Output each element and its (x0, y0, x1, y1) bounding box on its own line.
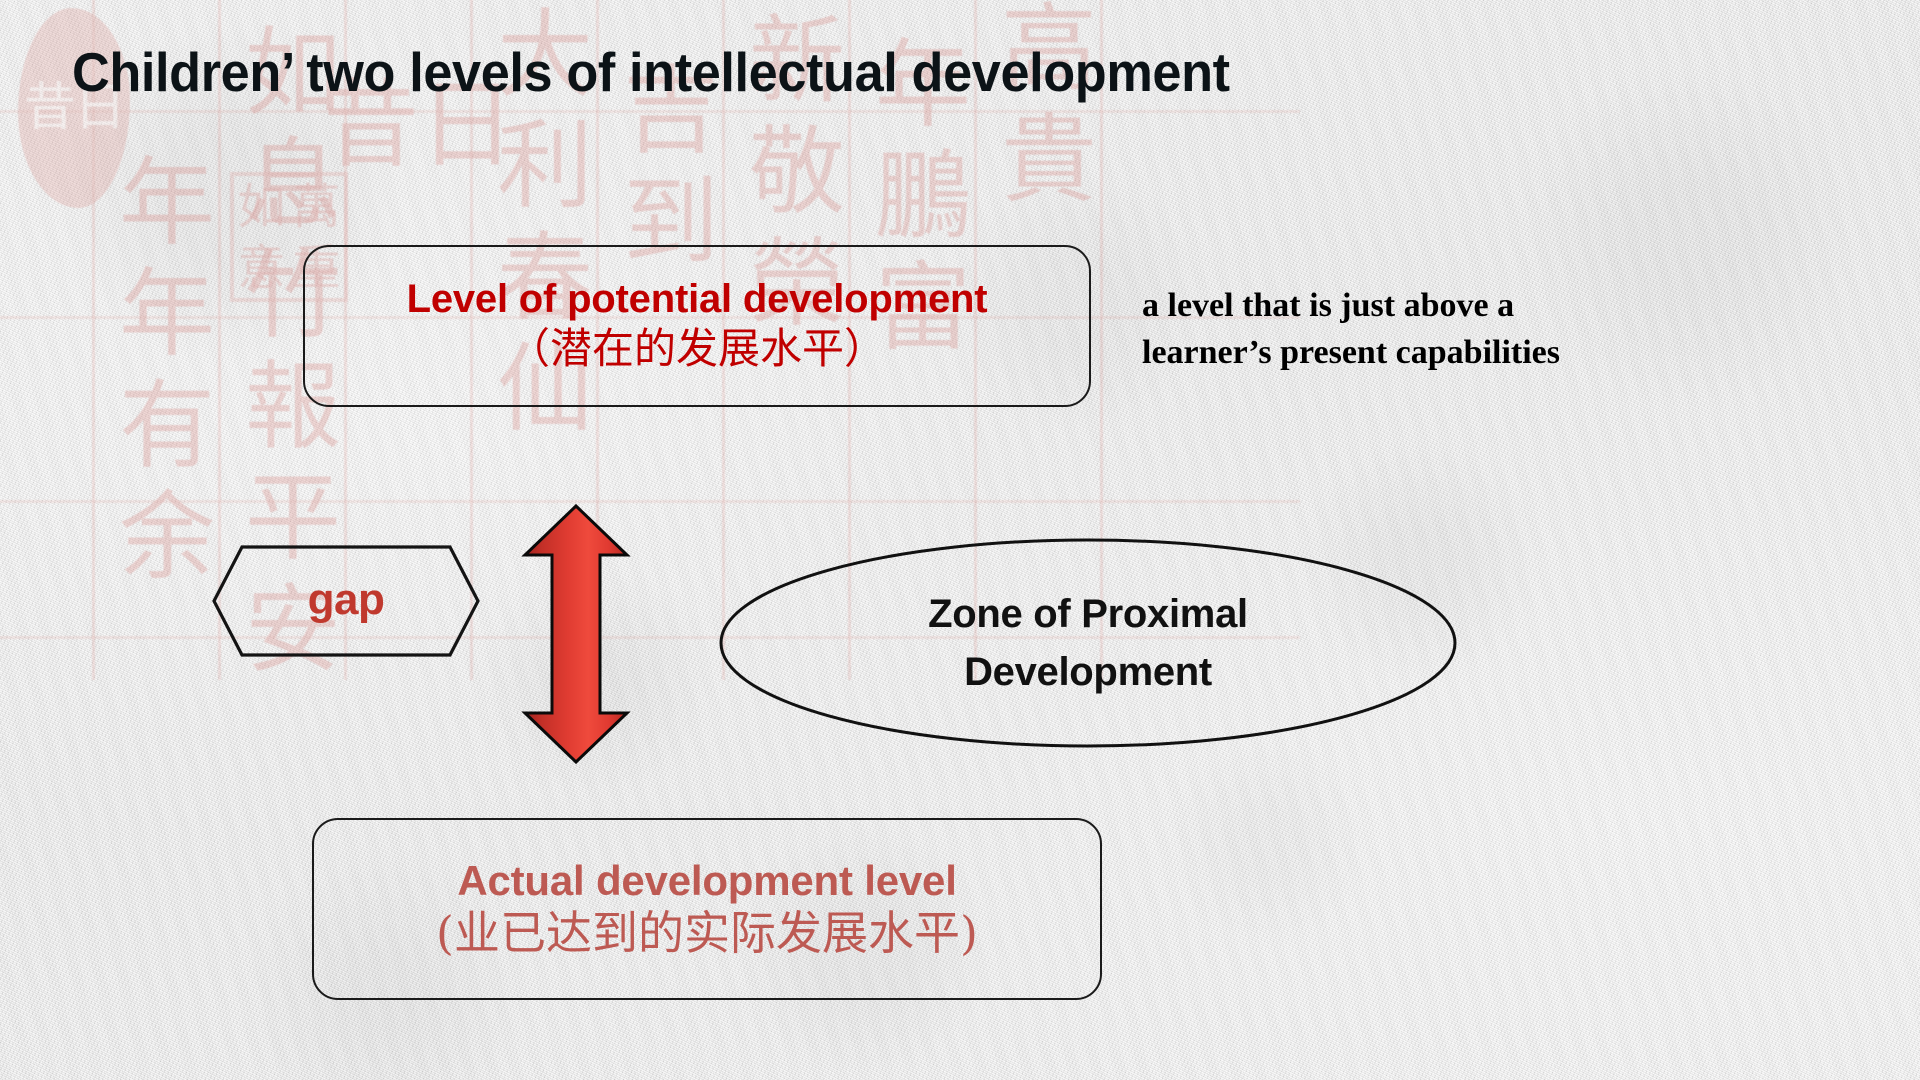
zpd-label-line-1: Zone of Proximal (928, 585, 1248, 643)
potential-development-label-zh: （潜在的发展水平） (508, 324, 886, 374)
double-headed-vertical-arrow-icon (520, 503, 632, 765)
potential-development-caption: a level that is just above a learner’s p… (1142, 283, 1762, 377)
gap-hexagon: gap (212, 545, 480, 657)
potential-development-label-en: Level of potential development (407, 277, 988, 322)
zpd-label: Zone of Proximal Development (718, 537, 1458, 749)
double-arrow (520, 503, 632, 765)
caption-line-2: learner’s present capabilities (1142, 330, 1762, 377)
zone-of-proximal-development-ellipse: Zone of Proximal Development (718, 537, 1458, 749)
page-title: Children’ two levels of intellectual dev… (72, 42, 1554, 103)
slide-canvas: 年 年 有 余 如 息 竹 報 平 安 昔日 大 利 春 仙 吉 到 新 敬 榮… (0, 0, 1920, 1080)
zpd-label-line-2: Development (964, 643, 1212, 701)
potential-development-box: Level of potential development （潜在的发展水平） (303, 245, 1091, 407)
caption-line-1: a level that is just above a (1142, 283, 1762, 330)
actual-development-label-en: Actual development level (457, 857, 956, 904)
gap-hexagon-label: gap (212, 545, 480, 657)
actual-development-label-zh: (业已达到的实际发展水平) (436, 906, 978, 961)
actual-development-box: Actual development level (业已达到的实际发展水平) (312, 818, 1102, 1000)
